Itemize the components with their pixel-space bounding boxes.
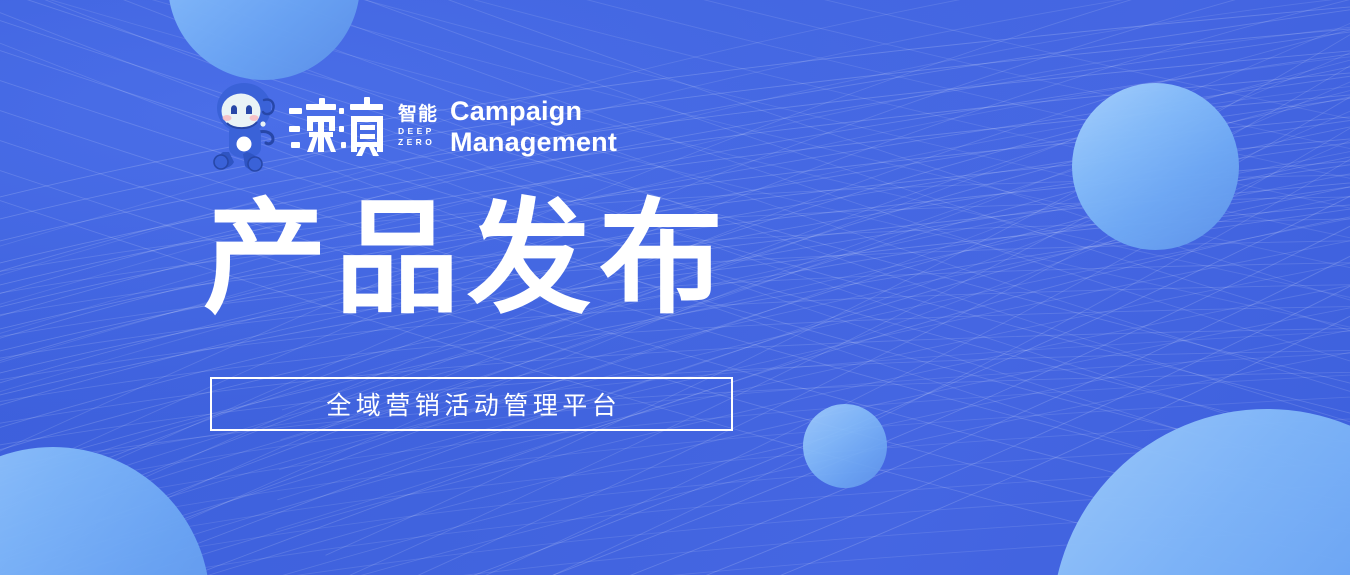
product-launch-banner: 智能 DEEP ZERO Campaign Management 产品发布 全域… bbox=[0, 0, 1350, 575]
product-name-line2: Management bbox=[450, 127, 617, 157]
subtitle-box: 全域营销活动管理平台 bbox=[210, 377, 733, 431]
banner-content: 智能 DEEP ZERO Campaign Management 产品发布 全域… bbox=[0, 0, 1350, 575]
brand-sub-en-zero: ZERO bbox=[398, 137, 438, 147]
subtitle-text: 全域营销活动管理平台 bbox=[322, 386, 622, 422]
page-title: 产品发布 bbox=[203, 189, 731, 329]
product-name-en: Campaign Management bbox=[450, 96, 617, 159]
product-name-line1: Campaign bbox=[450, 96, 582, 126]
brand-sub-group: 智能 DEEP ZERO bbox=[398, 105, 438, 150]
brand-sub-cn: 智能 bbox=[398, 105, 438, 125]
robot-mascot-icon bbox=[207, 82, 281, 172]
brand-lockup: 智能 DEEP ZERO Campaign Management bbox=[207, 82, 617, 172]
brand-sub-en-deep: DEEP bbox=[398, 126, 438, 136]
brand-cn-logo bbox=[289, 96, 389, 158]
logo-wordmark-group: 智能 DEEP ZERO Campaign Management bbox=[289, 96, 617, 159]
